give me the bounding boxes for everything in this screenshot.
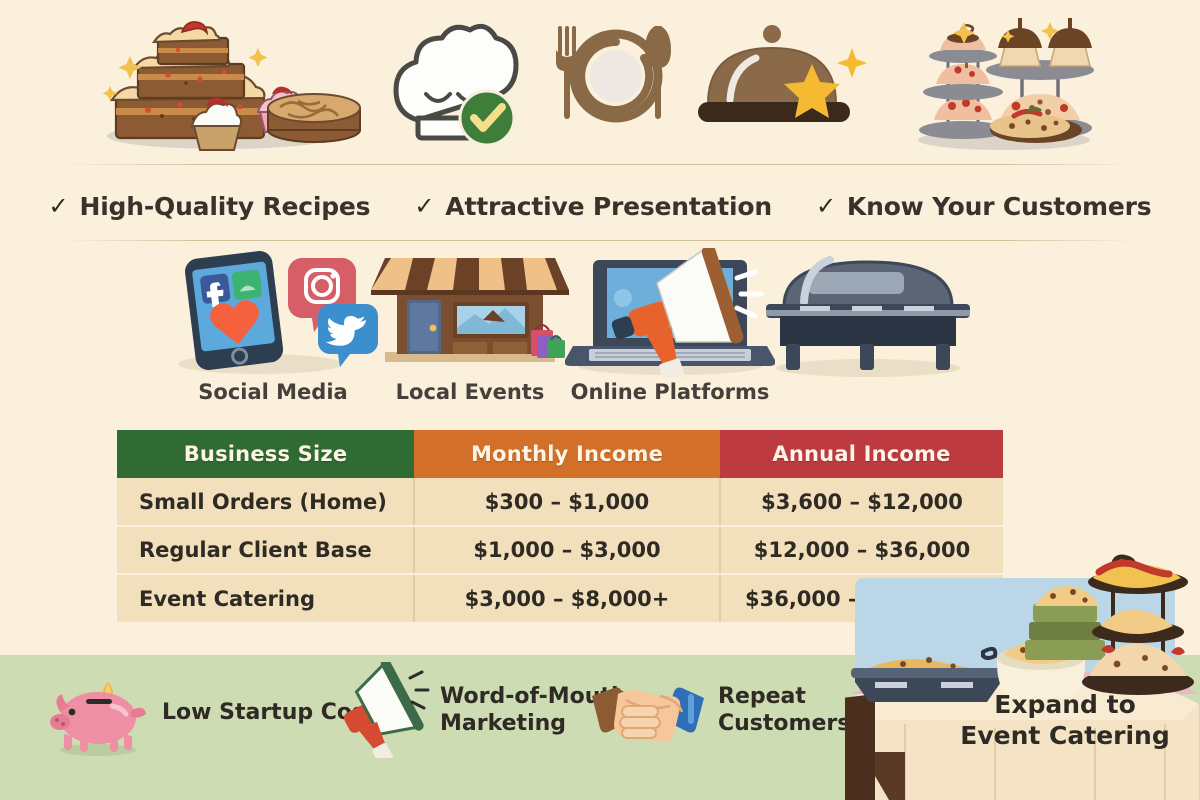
expand-callout-line1: Expand to (955, 690, 1175, 721)
check-icon: ✓ (49, 194, 69, 218)
checklist-item-label: High-Quality Recipes (79, 192, 370, 221)
infographic-canvas: ✓ High-Quality Recipes ✓ Attractive Pres… (0, 0, 1200, 800)
channel-social-media: Social Media (168, 248, 378, 378)
cell-business-size: Event Catering (117, 574, 414, 622)
cell-business-size: Small Orders (Home) (117, 478, 414, 526)
benefit-word-of-mouth: Word-of-Mouth Marketing (330, 662, 627, 758)
quality-checklist: ✓ High-Quality Recipes ✓ Attractive Pres… (0, 182, 1200, 230)
column-header-annual-income: Annual Income (720, 430, 1003, 478)
checklist-item-label: Know Your Customers (847, 192, 1152, 221)
chef-hat-check-icon (388, 8, 520, 153)
table-header-row: Business Size Monthly Income Annual Inco… (117, 430, 1003, 478)
channel-label: Local Events (365, 380, 575, 404)
catering-buffet-table-icon (845, 552, 1200, 800)
column-header-business-size: Business Size (117, 430, 414, 478)
check-icon: ✓ (414, 194, 434, 218)
checklist-item-2: ✓ Know Your Customers (816, 192, 1151, 221)
cell-business-size: Regular Client Base (117, 526, 414, 574)
cell-monthly-income: $1,000 – $3,000 (414, 526, 720, 574)
checklist-item-1: ✓ Attractive Presentation (414, 192, 772, 221)
channel-chafing-dish (760, 248, 975, 378)
smartphone-social-icon (168, 248, 378, 378)
storefront-icon (365, 248, 575, 378)
expand-callout-line2: Event Catering (955, 721, 1175, 752)
checklist-item-0: ✓ High-Quality Recipes (49, 192, 371, 221)
plate-fork-knife-icon (548, 8, 684, 153)
channel-online-platforms: Online Platforms (565, 248, 775, 378)
cell-annual-income: $3,600 – $12,000 (720, 478, 1003, 526)
column-header-monthly-income: Monthly Income (414, 430, 720, 478)
dessert-tiered-stand-icon (904, 8, 1094, 153)
check-icon: ✓ (816, 194, 836, 218)
cell-monthly-income: $3,000 – $8,000+ (414, 574, 720, 622)
cloche-star-icon (694, 8, 870, 153)
layered-cake-desserts-icon (82, 8, 364, 153)
hero-icon-row (0, 0, 1200, 160)
benefit-label: Repeat Customers (718, 683, 850, 738)
chafing-dish-icon (760, 248, 975, 378)
table-row: Small Orders (Home) $300 – $1,000 $3,600… (117, 478, 1003, 526)
channel-label: Online Platforms (565, 380, 775, 404)
laptop-megaphone-icon (565, 248, 775, 378)
channel-label: Social Media (168, 380, 378, 404)
megaphone-icon (330, 662, 430, 758)
section-divider-2 (62, 240, 1138, 241)
marketing-channel-row: Social Media (0, 248, 1200, 418)
channel-local-events: Local Events (365, 248, 575, 378)
section-divider-1 (62, 164, 1138, 165)
handshake-icon (588, 672, 708, 748)
benefit-low-startup-cost: Low Startup Cost (42, 668, 376, 758)
cell-monthly-income: $300 – $1,000 (414, 478, 720, 526)
benefit-repeat-customers: Repeat Customers (588, 672, 850, 748)
checklist-item-label: Attractive Presentation (445, 192, 772, 221)
piggy-bank-icon (42, 668, 152, 758)
expand-callout: Expand to Event Catering (955, 690, 1175, 751)
